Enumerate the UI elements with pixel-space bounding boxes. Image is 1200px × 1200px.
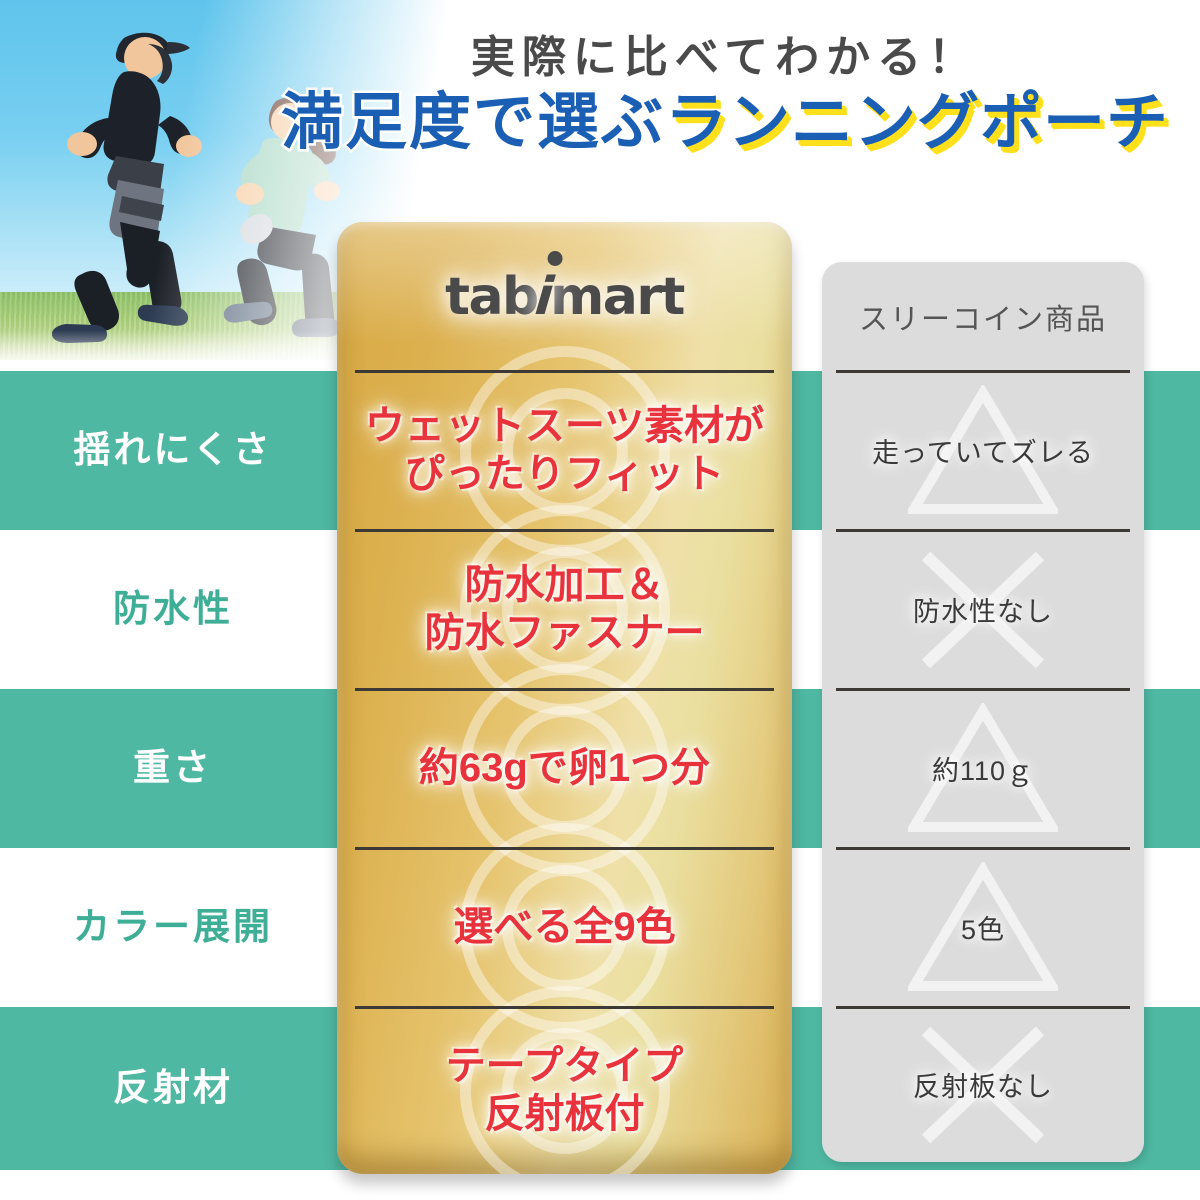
row-label-3: 重さ: [133, 746, 213, 790]
competitor-value-2: 防水性なし: [913, 590, 1053, 629]
logo-part-1: tab: [445, 267, 538, 327]
competitor-divider-2: [836, 529, 1130, 532]
competitor-divider-4: [836, 847, 1130, 850]
brand-cell-1: ウェットスーツ素材が ぴったりフィット: [337, 371, 792, 530]
headline-subtitle: 実際に比べてわかる！: [250, 30, 1200, 85]
brand-value-2: 防水加工＆ 防水ファスナー: [425, 562, 705, 656]
brand-cell-2: 防水加工＆ 防水ファスナー: [337, 530, 792, 689]
row-label-4: カラー展開: [73, 905, 273, 949]
brand-value-5-line-2: 反射板付: [446, 1091, 684, 1138]
brand-divider-2: [355, 529, 774, 532]
competitor-divider-5: [836, 1006, 1130, 1009]
brand-divider-3: [355, 688, 774, 691]
competitor-column-header: スリーコイン商品: [822, 262, 1144, 371]
brand-cell-5: テープタイプ 反射板付: [337, 1007, 792, 1174]
competitor-divider-3: [836, 688, 1130, 691]
headline-main: 満足度で選ぶランニングポーチ: [250, 87, 1200, 158]
logo-part-3: mart: [550, 267, 684, 327]
brand-value-2-line-1: 防水加工＆: [425, 562, 705, 609]
brand-cell-3: 約63gで卵1つ分: [337, 689, 792, 848]
brand-cell-4: 選べる全9色: [337, 848, 792, 1007]
competitor-value-1: 走っていてズレる: [872, 431, 1094, 470]
competitor-cell-5: 反射板なし: [822, 1007, 1144, 1162]
competitor-cell-2: 防水性なし: [822, 530, 1144, 689]
brand-divider-4: [355, 847, 774, 850]
row-label-2: 防水性: [113, 587, 233, 631]
brand-logo-area: tabimart: [337, 222, 792, 371]
competitor-value-4: 5色: [961, 908, 1005, 947]
brand-value-4: 選べる全9色: [453, 904, 675, 951]
competitor-cell-3: 約110ｇ: [822, 689, 1144, 848]
headline-main-plain: 満足度で選ぶ: [281, 88, 665, 157]
brand-value-1-line-1: ウェットスーツ素材が: [365, 403, 764, 450]
brand-divider-5: [355, 1006, 774, 1009]
row-label-cell-3: 重さ: [18, 689, 328, 848]
row-label-5: 反射材: [113, 1066, 233, 1110]
brand-divider-1: [355, 370, 774, 373]
brand-column: tabimart ウェットスーツ素材が ぴったりフィット 防水加工＆ 防水ファス…: [337, 222, 792, 1174]
brand-value-5: テープタイプ 反射板付: [446, 1043, 684, 1137]
competitor-divider-1: [836, 370, 1130, 373]
competitor-cell-4: 5色: [822, 848, 1144, 1007]
comparison-infographic: 実際に比べてわかる！ 満足度で選ぶランニングポーチ 揺れにくさ 防水性 重さ カ…: [0, 0, 1200, 1200]
brand-value-1-line-2: ぴったりフィット: [365, 451, 764, 498]
headline-main-accent: ランニングポーチ: [665, 88, 1169, 157]
row-label-cell-1: 揺れにくさ: [18, 371, 328, 530]
brand-value-4-line-1: 選べる全9色: [453, 904, 675, 951]
tabimart-logo: tabimart: [445, 267, 684, 327]
brand-value-5-line-1: テープタイプ: [446, 1043, 684, 1090]
competitor-cell-1: 走っていてズレる: [822, 371, 1144, 530]
competitor-column-header-label: スリーコイン商品: [859, 296, 1107, 338]
row-label-1: 揺れにくさ: [73, 428, 272, 472]
competitor-column: スリーコイン商品 走っていてズレる 防水性なし 約110ｇ: [822, 262, 1144, 1162]
competitor-value-5: 反射板なし: [913, 1065, 1053, 1104]
row-label-cell-4: カラー展開: [18, 848, 328, 1007]
brand-value-1: ウェットスーツ素材が ぴったりフィット: [365, 403, 764, 497]
brand-value-3-line-1: 約63gで卵1つ分: [419, 745, 710, 792]
competitor-value-3: 約110ｇ: [932, 749, 1034, 788]
brand-value-3: 約63gで卵1つ分: [419, 745, 710, 792]
row-label-cell-2: 防水性: [18, 530, 328, 689]
row-label-cell-5: 反射材: [18, 1007, 328, 1170]
headline-block: 実際に比べてわかる！ 満足度で選ぶランニングポーチ: [250, 30, 1200, 210]
brand-value-2-line-2: 防水ファスナー: [425, 610, 705, 657]
logo-i-dot: [547, 251, 562, 266]
